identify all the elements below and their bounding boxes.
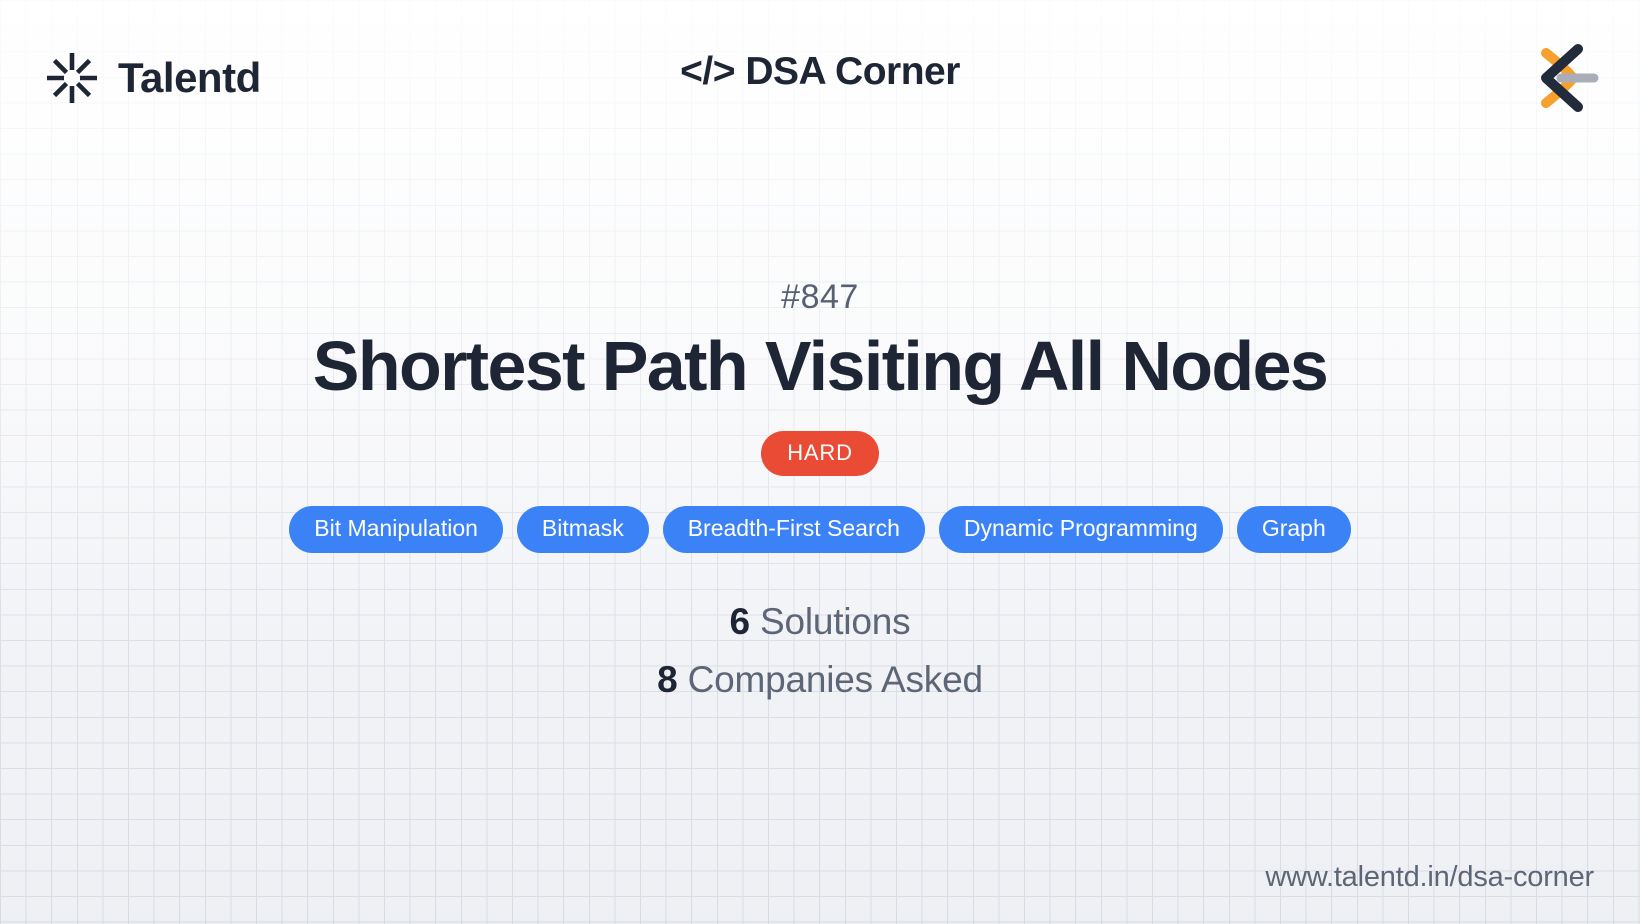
stat-solutions-value: 6 <box>730 601 750 642</box>
stat-companies-label: Companies Asked <box>678 659 983 700</box>
dsa-corner-card: Talentd </> DSA Corner #847 Shortest Pat… <box>0 0 1640 924</box>
asterisk-starburst-icon <box>44 50 100 106</box>
tag-item[interactable]: Bit Manipulation <box>289 506 503 553</box>
problem-title: Shortest Path Visiting All Nodes <box>313 329 1328 405</box>
tag-item[interactable]: Bitmask <box>517 506 649 553</box>
difficulty-badge: HARD <box>761 431 879 476</box>
brand-name: Talentd <box>118 57 261 99</box>
tag-item[interactable]: Breadth-First Search <box>663 506 925 553</box>
problem-number: #847 <box>781 278 859 317</box>
tag-item[interactable]: Dynamic Programming <box>939 506 1223 553</box>
stat-companies: 8 Companies Asked <box>657 659 983 701</box>
main-content: #847 Shortest Path Visiting All Nodes HA… <box>0 155 1640 824</box>
chevron-c-logo-icon <box>1516 35 1602 121</box>
footer-url: www.talentd.in/dsa-corner <box>1265 861 1594 894</box>
stat-solutions-label: Solutions <box>750 601 911 642</box>
brand: Talentd <box>44 50 261 106</box>
stats: 6 Solutions 8 Companies Asked <box>657 601 983 701</box>
header: Talentd </> DSA Corner <box>0 0 1640 155</box>
tag-list: Bit Manipulation Bitmask Breadth-First S… <box>289 506 1351 553</box>
stat-solutions: 6 Solutions <box>730 601 911 643</box>
tag-item[interactable]: Graph <box>1237 506 1351 553</box>
stat-companies-value: 8 <box>657 659 677 700</box>
